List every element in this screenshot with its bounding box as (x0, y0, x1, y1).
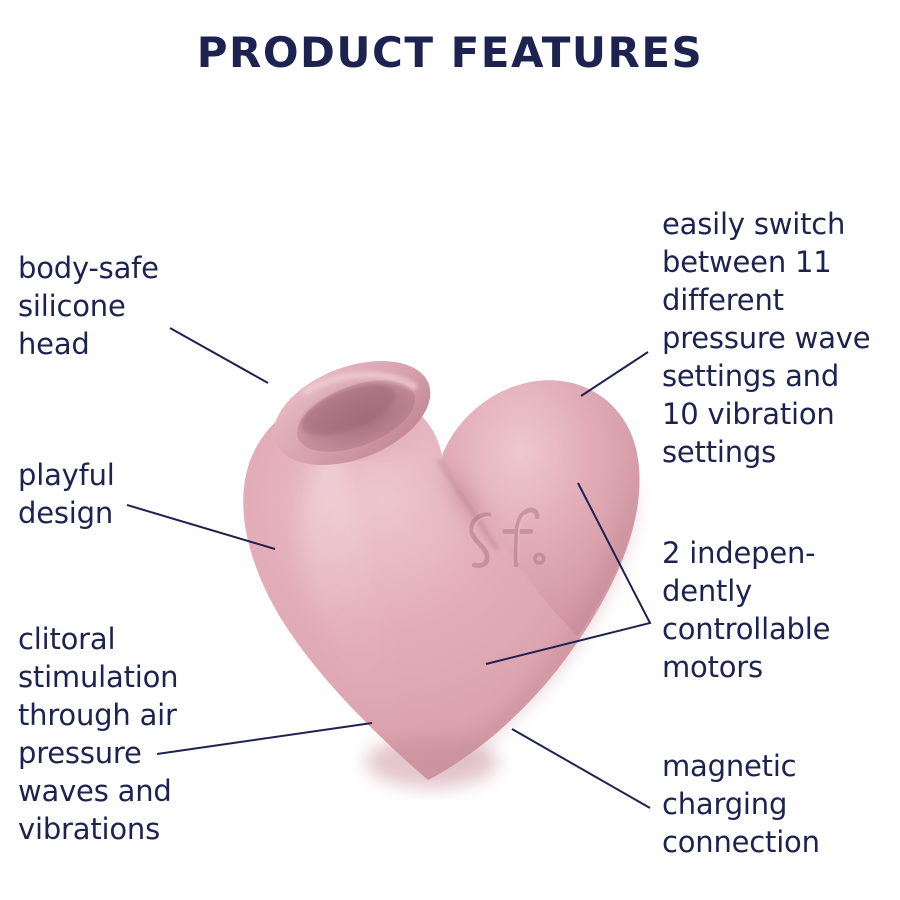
product-heart-illustration (180, 310, 680, 800)
callout-line: head (18, 325, 159, 363)
product-features-infographic: PRODUCT FEATURES (0, 0, 900, 900)
callout-line: connection (662, 823, 820, 861)
callout-line: silicone (18, 287, 159, 325)
callout-independently-controllable-motors: 2 indepen- dently controllable motors (662, 534, 830, 686)
callout-line: motors (662, 648, 830, 686)
callout-pressure-wave-and-vibration-settings: easily switch between 11 different press… (662, 205, 870, 471)
callout-line: waves and (18, 772, 178, 810)
callout-line: body-safe (18, 249, 159, 287)
callout-line: dently (662, 572, 830, 610)
callout-clitoral-stimulation-air-pressure: clitoral stimulation through air pressur… (18, 620, 178, 848)
callout-line: vibrations (18, 810, 178, 848)
callout-line: playful (18, 456, 115, 494)
callout-line: pressure (18, 734, 178, 772)
callout-magnetic-charging-connection: magnetic charging connection (662, 747, 820, 861)
callout-line: easily switch (662, 205, 870, 243)
callout-line: stimulation (18, 658, 178, 696)
callout-line: 2 indepen- (662, 534, 830, 572)
callout-line: between 11 (662, 243, 870, 281)
callout-body-safe-silicone-head: body-safe silicone head (18, 249, 159, 363)
page-title: PRODUCT FEATURES (0, 28, 900, 77)
callout-line: clitoral (18, 620, 178, 658)
heart-body (243, 341, 639, 788)
callout-line: magnetic (662, 747, 820, 785)
callout-line: pressure wave (662, 319, 870, 357)
callout-line: settings and (662, 357, 870, 395)
callout-line: settings (662, 433, 870, 471)
callout-line: 10 vibration (662, 395, 870, 433)
callout-line: charging (662, 785, 820, 823)
callout-playful-design: playful design (18, 456, 115, 532)
callout-line: design (18, 494, 115, 532)
callout-line: through air (18, 696, 178, 734)
callout-line: different (662, 281, 870, 319)
callout-line: controllable (662, 610, 830, 648)
